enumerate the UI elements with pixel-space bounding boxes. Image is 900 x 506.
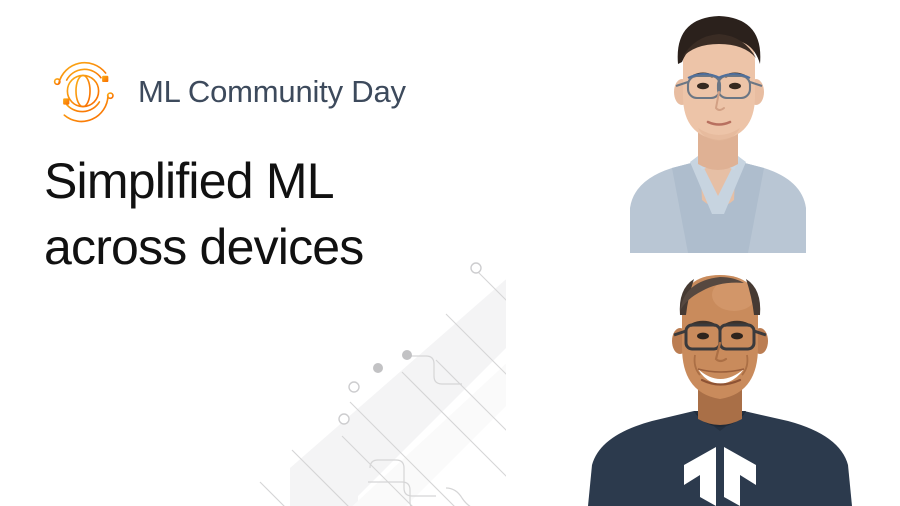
speaker-portrait-2 xyxy=(548,253,900,506)
speaker-portrait-1 xyxy=(548,0,900,253)
page-title: Simplified ML across devices xyxy=(44,148,514,280)
brand-lockup: ML Community Day xyxy=(44,52,406,130)
speaker-photo-top xyxy=(548,0,900,253)
globe-orbit-icon xyxy=(44,52,122,130)
brand-name: ML Community Day xyxy=(138,76,406,107)
circuit-traces xyxy=(250,272,506,506)
speaker-photo-column xyxy=(548,0,900,506)
circuit-nodes-hollow xyxy=(339,263,504,506)
circuit-decoration xyxy=(250,250,506,506)
title-line-1: Simplified ML xyxy=(44,148,514,214)
circuit-nodes-filled xyxy=(340,350,475,506)
presentation-slide: ML Community Day Simplified ML across de… xyxy=(0,0,900,506)
speaker-photo-bottom xyxy=(548,253,900,506)
ribbon-shapes xyxy=(290,250,506,506)
circuit-graphic xyxy=(250,250,506,506)
title-line-2: across devices xyxy=(44,214,514,280)
